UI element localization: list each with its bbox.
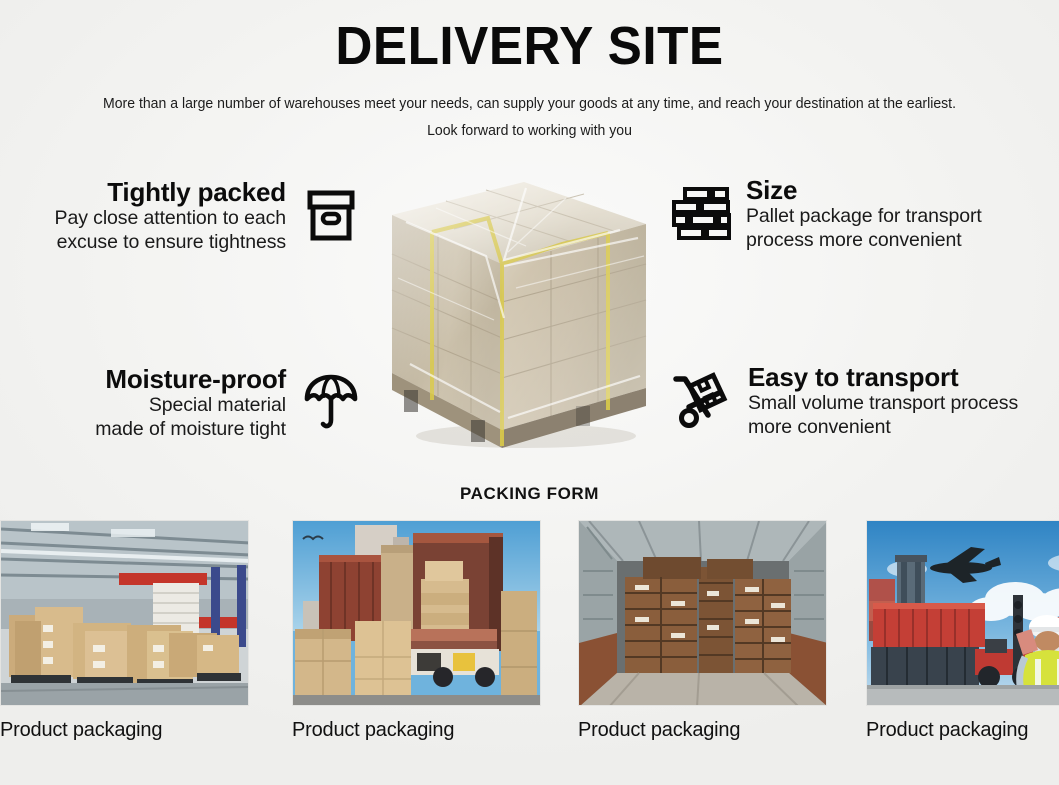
warehouse-interior-thumbnail[interactable] bbox=[0, 520, 249, 706]
gallery-card[interactable]: Product packaging bbox=[578, 520, 827, 742]
feature-moisture-proof: Moisture-proof Special material made of … bbox=[20, 365, 360, 442]
feature-tightly-packed: Tightly packed Pay close attention to ea… bbox=[0, 178, 360, 255]
feature-title: Moisture-proof bbox=[20, 365, 286, 394]
feature-desc-line-1: Pay close attention to each bbox=[0, 207, 286, 231]
gallery-caption: Product packaging bbox=[866, 719, 1059, 742]
feature-easy-to-transport: Easy to transport Small volume transport… bbox=[672, 363, 1059, 440]
archive-box-icon bbox=[302, 187, 360, 245]
feature-desc-line-2: more convenient bbox=[748, 416, 1059, 440]
gallery-card[interactable]: Product packaging bbox=[866, 520, 1059, 742]
feature-text: Size Pallet package for transport proces… bbox=[732, 176, 1059, 253]
packing-form-heading: PACKING FORM bbox=[0, 484, 1059, 504]
gallery-caption: Product packaging bbox=[578, 719, 827, 742]
port-logistics-thumbnail[interactable] bbox=[866, 520, 1059, 706]
feature-desc-line-1: Special material bbox=[20, 394, 286, 418]
feature-desc-line-2: process more convenient bbox=[746, 229, 1059, 253]
container-loading-thumbnail[interactable] bbox=[292, 520, 541, 706]
feature-desc-line-2: made of moisture tight bbox=[20, 418, 286, 442]
feature-size: Size Pallet package for transport proces… bbox=[672, 176, 1059, 253]
container-interior-thumbnail[interactable] bbox=[578, 520, 827, 706]
feature-desc-line-1: Pallet package for transport bbox=[746, 205, 1059, 229]
gallery-caption: Product packaging bbox=[0, 719, 249, 742]
delivery-site-page: DELIVERY SITE More than a large number o… bbox=[0, 0, 1059, 785]
gallery-card[interactable]: Product packaging bbox=[292, 520, 541, 742]
gallery-caption: Product packaging bbox=[292, 719, 541, 742]
pallet-hero-image bbox=[376, 168, 662, 458]
feature-text: Easy to transport Small volume transport… bbox=[734, 363, 1059, 440]
feature-title: Size bbox=[746, 176, 1059, 205]
feature-desc-line-1: Small volume transport process bbox=[748, 392, 1059, 416]
brick-wall-icon bbox=[672, 186, 732, 242]
feature-title: Easy to transport bbox=[748, 363, 1059, 392]
feature-text: Tightly packed Pay close attention to ea… bbox=[0, 178, 302, 255]
umbrella-icon bbox=[302, 372, 360, 434]
hand-truck-icon bbox=[672, 371, 734, 431]
packing-form-gallery: Product packaging bbox=[0, 520, 1059, 742]
feature-text: Moisture-proof Special material made of … bbox=[20, 365, 302, 442]
feature-desc-line-2: excuse to ensure tightness bbox=[0, 231, 286, 255]
feature-title: Tightly packed bbox=[0, 178, 286, 207]
gallery-card[interactable]: Product packaging bbox=[0, 520, 249, 742]
